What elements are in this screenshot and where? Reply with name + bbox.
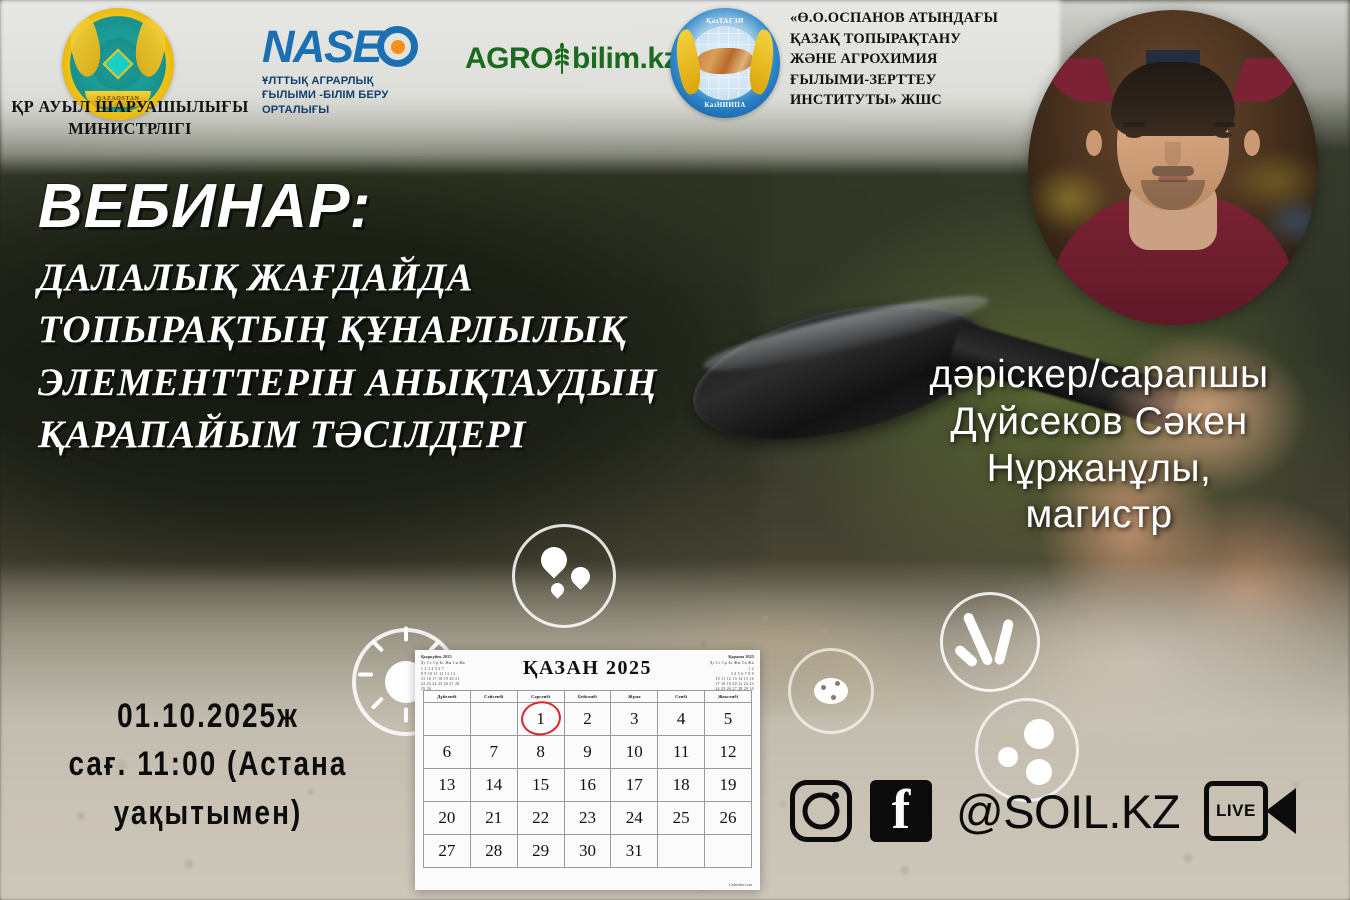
- calendar-day-cell[interactable]: 24: [611, 802, 658, 835]
- webinar-topic-line-1: ДАЛАЛЫҚ ЖАҒДАЙДА: [38, 252, 738, 304]
- calendar-day-cell[interactable]: 28: [470, 835, 517, 868]
- webinar-topic: ДАЛАЛЫҚ ЖАҒДАЙДА ТОПЫРАҚТЫҢ ҚҰНАРЛЫЛЫҚ Э…: [38, 252, 738, 461]
- calendar-weekday-4: Жұма: [611, 691, 658, 703]
- wheat-icon: [553, 42, 571, 76]
- webinar-topic-line-4: ҚАРАПАЙЫМ ТӘСІЛДЕРІ: [38, 409, 738, 461]
- calendar-day-cell[interactable]: 14: [470, 769, 517, 802]
- ministry-name: ҚР АУЫЛ ШАРУАШЫЛЫҒЫ МИНИСТРЛІГІ: [0, 96, 260, 140]
- calendar-widget: Қыркүйек 2025 Дс Сс Ср Бс Жм Сн Жк 1 2 3…: [415, 650, 760, 890]
- speaker-role: дәріскер/сарапшы: [864, 352, 1334, 399]
- portrait-ear-right: [1244, 130, 1260, 156]
- calendar-header: Қыркүйек 2025 Дс Сс Ср Бс Жм Сн Жк 1 2 3…: [415, 650, 760, 690]
- portrait-brow-right: [1213, 122, 1235, 127]
- calendar-weekday-3: Бейсенбі: [564, 691, 611, 703]
- institute-name-line-2: ҚАЗАҚ ТОПЫРАҚТАНУ: [790, 29, 1040, 50]
- ministry-name-line-2: МИНИСТРЛІГІ: [0, 118, 260, 140]
- calendar-week-row: 2728293031: [424, 835, 752, 868]
- speaker-patronymic: Нұржанұлы,: [864, 446, 1334, 493]
- event-date: 01.10.2025ж: [44, 692, 372, 740]
- sun-ray-5: [404, 708, 408, 723]
- earthworm-2: [994, 618, 1015, 665]
- calendar-day-cell[interactable]: 8: [517, 736, 564, 769]
- bug-dot-1: [821, 685, 826, 690]
- calendar-grid: ДүйсенбіСейсенбіСәрсенбіБейсенбіЖұмаСенб…: [423, 690, 752, 868]
- calendar-highlight-circle: [518, 699, 562, 738]
- calendar-day-cell[interactable]: 2: [564, 703, 611, 736]
- mini-next-row-5: 24 25 26 27 28 29 30: [692, 687, 754, 692]
- institute-name-line-5: ИНСТИТУТЫ» ЖШС: [790, 90, 1040, 111]
- calendar-day-cell[interactable]: 6: [424, 736, 471, 769]
- sun-ray-8: [371, 639, 384, 652]
- earthworm-icon: [940, 592, 1040, 692]
- portrait-nose: [1165, 142, 1181, 166]
- calendar-week-row: 13141516171819: [424, 769, 752, 802]
- calendar-day-cell[interactable]: 13: [424, 769, 471, 802]
- calendar-day-cell[interactable]: 9: [564, 736, 611, 769]
- facebook-icon[interactable]: [870, 780, 932, 842]
- portrait-eye-left: [1126, 132, 1142, 138]
- agrobilim-part-2: bilim.kz: [572, 42, 678, 76]
- ministry-name-line-1: ҚР АУЫЛ ШАРУАШЫЛЫҒЫ: [0, 96, 260, 118]
- sun-ray-7: [358, 673, 373, 677]
- calendar-day-cell[interactable]: 30: [564, 835, 611, 868]
- institute-name: «Ө.О.ОСПАНОВ АТЫНДАҒЫ ҚАЗАҚ ТОПЫРАҚТАНУ …: [790, 8, 1040, 111]
- webinar-topic-line-2: ТОПЫРАҚТЫҢ ҚҰНАРЛЫЛЫҚ: [38, 304, 738, 356]
- water-drop-small: [548, 580, 566, 598]
- calendar-day-cell[interactable]: 3: [611, 703, 658, 736]
- social-bar: @SOIL.KZ LIVE: [790, 768, 1296, 854]
- bug-body: [814, 678, 848, 704]
- water-drop-large: [536, 542, 573, 579]
- calendar-day-cell[interactable]: 4: [658, 703, 705, 736]
- microbe-1: [1024, 719, 1054, 749]
- calendar-weekday-2: Сәрсенбі: [517, 691, 564, 703]
- nasec-subtitle: ҰЛТТЫҚ АГРАРЛЫҚ ҒЫЛЫМИ -БІЛІМ БЕРУ ОРТАЛ…: [262, 74, 442, 117]
- calendar-day-cell[interactable]: 11: [658, 736, 705, 769]
- calendar-day-cell[interactable]: 22: [517, 802, 564, 835]
- microbe-2: [998, 747, 1018, 767]
- bug-dot-3: [831, 695, 836, 700]
- calendar-empty-cell: [705, 835, 752, 868]
- event-time: сағ. 11:00 (Астана: [44, 740, 372, 788]
- emblem-wing-left: [63, 17, 109, 80]
- calendar-day-cell[interactable]: 15: [517, 769, 564, 802]
- institute-name-line-1: «Ө.О.ОСПАНОВ АТЫНДАҒЫ: [790, 8, 1040, 29]
- portrait-ear-left: [1086, 130, 1102, 156]
- portrait-brow-left: [1123, 122, 1145, 127]
- poster-title-block: ВЕБИНАР: ДАЛАЛЫҚ ЖАҒДАЙДА ТОПЫРАҚТЫҢ ҚҰН…: [38, 176, 738, 461]
- speaker-info: дәріскер/сарапшы Дүйсеков Сәкен Нұржанұл…: [864, 352, 1334, 539]
- bug-icon: [788, 648, 874, 734]
- nasec-subtitle-line-2: ҒЫЛЫМИ -БІЛІМ БЕРУ ОРТАЛЫҒЫ: [262, 88, 442, 117]
- calendar-day-cell[interactable]: 1: [517, 703, 564, 736]
- calendar-week-row: 12345: [424, 703, 752, 736]
- sun-ray-1: [404, 627, 408, 642]
- calendar-mini-next-month: Қараша 2025 Дс Сс Ср Бс Жм Сн Жк 1 2 3 4…: [692, 654, 754, 693]
- nasec-wordmark: NASE: [262, 24, 381, 69]
- live-label: LIVE: [1216, 801, 1256, 821]
- calendar-week-row: 6789101112: [424, 736, 752, 769]
- social-handle: @SOIL.KZ: [956, 784, 1180, 839]
- webinar-label: ВЕБИНАР:: [38, 176, 738, 238]
- nasec-subtitle-line-1: ҰЛТТЫҚ АГРАРЛЫҚ: [262, 74, 442, 88]
- live-video-icon: LIVE: [1204, 781, 1296, 841]
- nasec-ring-icon: [377, 26, 418, 67]
- water-drop-medium: [567, 563, 594, 590]
- emblem-wing-right: [127, 17, 173, 80]
- agrobilim-logo: AGRO bilim.kz: [465, 42, 678, 76]
- earthworm-3: [953, 644, 979, 669]
- nasec-logo: NASE ҰЛТТЫҚ АГРАРЛЫҚ ҒЫЛЫМИ -БІЛІМ БЕРУ …: [262, 24, 442, 117]
- instagram-icon[interactable]: [790, 780, 852, 842]
- institute-logo-bottom-text: КазНИИПА: [670, 101, 780, 109]
- mini-prev-row-5: 29 30: [421, 687, 483, 692]
- institute-logo-top-text: ҚазТАГЗИ: [670, 17, 780, 25]
- calendar-day-cell[interactable]: 23: [564, 802, 611, 835]
- calendar-day-cell[interactable]: 7: [470, 736, 517, 769]
- calendar-day-cell[interactable]: 17: [611, 769, 658, 802]
- event-datetime: 01.10.2025ж сағ. 11:00 (Астана уақытымен…: [44, 692, 372, 837]
- calendar-day-cell[interactable]: 18: [658, 769, 705, 802]
- webinar-topic-line-3: ЭЛЕМЕНТТЕРІН АНЫҚТАУДЫҢ: [38, 357, 738, 409]
- institute-name-line-4: ҒЫЛЫМИ-ЗЕРТТЕУ: [790, 70, 1040, 91]
- calendar-day-cell[interactable]: 21: [470, 802, 517, 835]
- sun-ray-6: [371, 696, 384, 709]
- portrait-moustache: [1152, 166, 1194, 176]
- institute-logo-icon: ҚазТАГЗИ КазНИИПА: [670, 8, 780, 118]
- water-drop-icon: [512, 524, 616, 628]
- calendar-week-row: 20212223242526: [424, 802, 752, 835]
- calendar-footer-credit: Calendar.com: [729, 882, 752, 887]
- calendar-day-cell[interactable]: 12: [705, 736, 752, 769]
- calendar-day-cell[interactable]: 20: [424, 802, 471, 835]
- calendar-day-cell[interactable]: 31: [611, 835, 658, 868]
- event-timezone: уақытымен): [44, 789, 372, 837]
- calendar-day-cell[interactable]: 25: [658, 802, 705, 835]
- institute-name-line-3: ЖӘНЕ АГРОХИМИЯ: [790, 49, 1040, 70]
- live-camera-lens: [1266, 788, 1296, 834]
- calendar-empty-cell: [658, 835, 705, 868]
- speaker-portrait-photo: [1028, 10, 1318, 325]
- calendar-empty-cell: [424, 703, 471, 736]
- mini-next-title: Қараша 2025: [692, 654, 754, 660]
- calendar-day-cell[interactable]: 16: [564, 769, 611, 802]
- speaker-name: Дүйсеков Сәкен: [864, 399, 1334, 446]
- calendar-day-cell[interactable]: 10: [611, 736, 658, 769]
- calendar-day-cell[interactable]: 29: [517, 835, 564, 868]
- bug-dot-2: [835, 681, 840, 686]
- calendar-empty-cell: [470, 703, 517, 736]
- speaker-degree: магистр: [864, 492, 1334, 539]
- portrait-eye-right: [1216, 132, 1232, 138]
- calendar-day-cell[interactable]: 26: [705, 802, 752, 835]
- calendar-day-cell[interactable]: 27: [424, 835, 471, 868]
- calendar-day-cell[interactable]: 5: [705, 703, 752, 736]
- calendar-day-cell[interactable]: 19: [705, 769, 752, 802]
- agrobilim-part-1: AGRO: [465, 42, 553, 76]
